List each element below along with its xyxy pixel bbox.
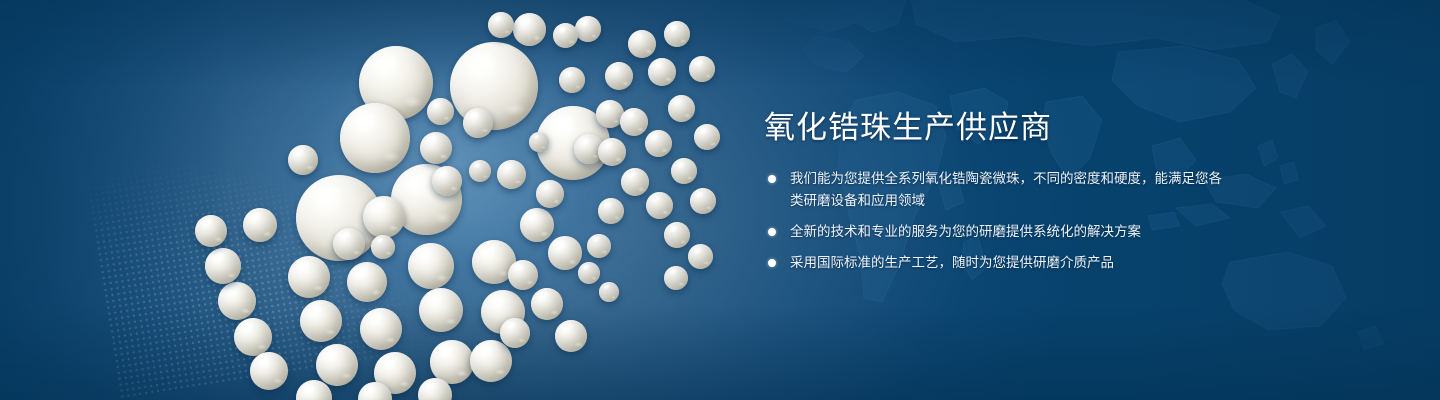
ceramic-bead <box>529 132 549 152</box>
ceramic-bead <box>548 236 582 270</box>
ceramic-bead <box>598 138 626 166</box>
ceramic-bead <box>620 108 648 136</box>
ceramic-bead <box>599 282 619 302</box>
feature-list-item-label: 我们能为您提供全系列氧化锆陶瓷微珠，不同的密度和硬度，能满足您各类研磨设备和应用… <box>790 171 1222 208</box>
ceramic-bead <box>555 320 587 352</box>
ceramic-bead <box>694 124 720 150</box>
ceramic-bead <box>628 30 656 58</box>
ceramic-bead <box>520 208 554 242</box>
ceramic-bead <box>463 108 493 138</box>
ceramic-bead <box>575 16 601 42</box>
ceramic-bead <box>605 62 633 90</box>
ceramic-bead <box>559 67 585 93</box>
ceramic-bead <box>316 344 358 386</box>
feature-list-item: 我们能为您提供全系列氧化锆陶瓷微珠，不同的密度和硬度，能满足您各类研磨设备和应用… <box>764 168 1234 212</box>
ceramic-bead <box>497 160 526 189</box>
ceramic-bead <box>371 235 395 259</box>
ceramic-bead <box>432 166 462 196</box>
ceramic-bead <box>470 340 512 382</box>
bullet-dot-icon <box>768 259 776 267</box>
ceramic-bead <box>218 282 256 320</box>
banner-feature-list: 我们能为您提供全系列氧化锆陶瓷微珠，不同的密度和硬度，能满足您各类研磨设备和应用… <box>764 168 1234 283</box>
ceramic-bead <box>646 192 673 219</box>
ceramic-bead <box>690 188 716 214</box>
ceramic-bead <box>645 130 672 157</box>
bullet-dot-icon <box>768 228 776 236</box>
ceramic-bead <box>508 260 538 290</box>
ceramic-bead <box>408 243 454 289</box>
ceramic-bead <box>234 318 272 356</box>
ceramic-bead <box>347 262 387 302</box>
ceramic-bead <box>427 98 454 125</box>
ceramic-bead <box>671 158 697 184</box>
ceramic-bead <box>360 308 402 350</box>
ceramic-bead <box>363 196 405 238</box>
feature-list-item: 采用国际标准的生产工艺，随时为您提供研磨介质产品 <box>764 252 1234 274</box>
ceramic-bead <box>195 215 227 247</box>
ceramic-bead <box>513 13 546 46</box>
ceramic-bead <box>300 300 342 342</box>
ceramic-bead <box>688 244 713 269</box>
hero-banner: 氧化锆珠生产供应商 我们能为您提供全系列氧化锆陶瓷微珠，不同的密度和硬度，能满足… <box>0 0 1440 400</box>
ceramic-bead <box>664 266 688 290</box>
ceramic-bead <box>469 160 491 182</box>
ceramic-bead <box>578 262 600 284</box>
bullet-dot-icon <box>768 175 776 183</box>
ceramic-bead <box>500 318 530 348</box>
ceramic-bead <box>288 145 318 175</box>
feature-list-item: 全新的技术和专业的服务为您的研磨提供系统化的解决方案 <box>764 221 1234 243</box>
ceramic-bead <box>288 256 330 298</box>
ceramic-bead <box>243 208 277 242</box>
banner-title: 氧化锆珠生产供应商 <box>764 108 1052 148</box>
ceramic-bead <box>420 132 452 164</box>
ceramic-bead <box>668 95 695 122</box>
ceramic-bead <box>689 56 715 82</box>
ceramic-bead <box>587 234 611 258</box>
ceramic-bead <box>531 288 563 320</box>
ceramic-bead <box>250 352 288 390</box>
ceramic-bead <box>536 180 564 208</box>
ceramic-bead <box>488 12 514 38</box>
banner-text-block: 氧化锆珠生产供应商 我们能为您提供全系列氧化锆陶瓷微珠，不同的密度和硬度，能满足… <box>764 0 1264 400</box>
ceramic-bead <box>664 21 690 47</box>
ceramic-bead <box>340 103 410 173</box>
ceramic-bead <box>419 288 463 332</box>
ceramic-bead <box>333 228 365 260</box>
ceramic-bead <box>205 248 241 284</box>
ceramic-bead <box>648 58 676 86</box>
ceramic-bead <box>598 198 624 224</box>
feature-list-item-label: 全新的技术和专业的服务为您的研磨提供系统化的解决方案 <box>790 224 1141 239</box>
ceramic-bead <box>664 222 690 248</box>
ceramic-bead <box>621 168 649 196</box>
ceramic-bead <box>553 23 578 48</box>
feature-list-item-label: 采用国际标准的生产工艺，随时为您提供研磨介质产品 <box>790 255 1114 270</box>
